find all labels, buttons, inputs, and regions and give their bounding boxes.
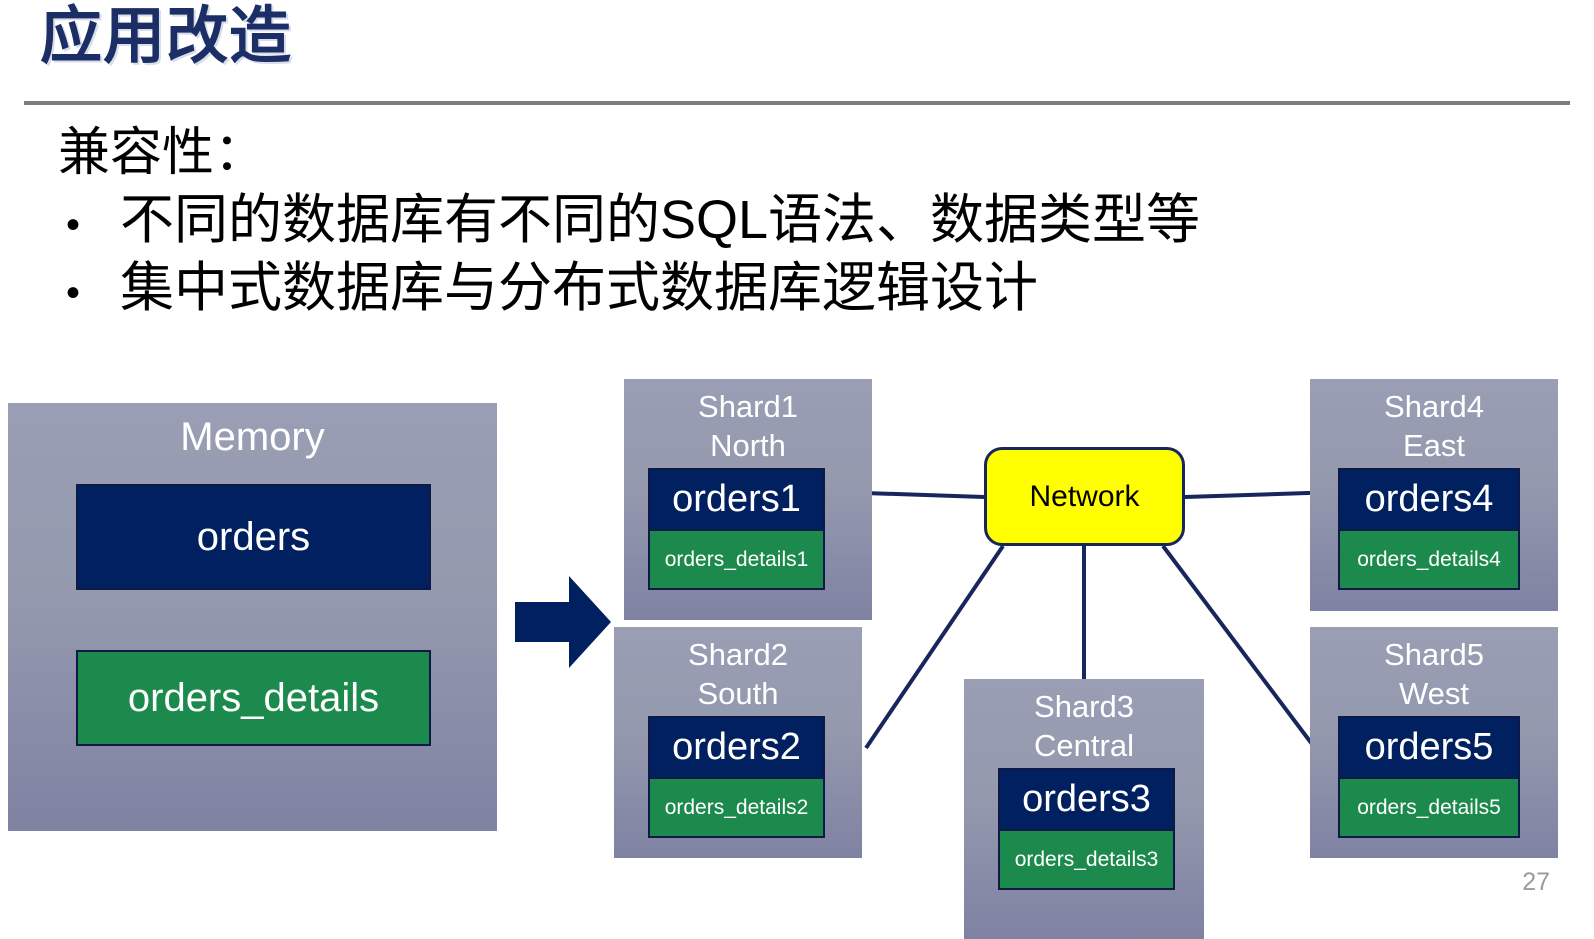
shard1-name: Shard1 bbox=[624, 387, 872, 426]
shard2-table-detail: orders_details2 bbox=[648, 777, 825, 838]
shard2-region: South bbox=[614, 674, 862, 713]
shard4-region: East bbox=[1310, 426, 1558, 465]
shard4-table-main: orders4 bbox=[1338, 468, 1520, 531]
shard3-table-detail: orders_details3 bbox=[998, 829, 1175, 890]
shard3-table-main: orders3 bbox=[998, 768, 1175, 831]
shard5-region: West bbox=[1310, 674, 1558, 713]
right-block-arrow-icon bbox=[515, 576, 611, 668]
shard2-name: Shard2 bbox=[614, 635, 862, 674]
shard1-region: North bbox=[624, 426, 872, 465]
shard1-table-detail: orders_details1 bbox=[648, 529, 825, 590]
memory-panel: Memory orders orders_details bbox=[8, 403, 497, 831]
shard-box-shard3[interactable]: Shard3 Central orders3 orders_details3 bbox=[964, 679, 1204, 939]
shard3-region: Central bbox=[964, 726, 1204, 765]
slide-canvas: 应用改造 兼容性： • 不同的数据库有不同的SQL语法、数据类型等 • 集中式数… bbox=[0, 0, 1594, 939]
shard4-title: Shard4 East bbox=[1310, 379, 1558, 465]
shard-box-shard5[interactable]: Shard5 West orders5 orders_details5 bbox=[1310, 627, 1558, 858]
shard3-name: Shard3 bbox=[964, 687, 1204, 726]
shard1-title: Shard1 North bbox=[624, 379, 872, 465]
shard2-title: Shard2 South bbox=[614, 627, 862, 713]
memory-table-orders-details: orders_details bbox=[76, 650, 431, 746]
memory-label: Memory bbox=[8, 403, 497, 457]
shard5-title: Shard5 West bbox=[1310, 627, 1558, 713]
network-node-icon[interactable]: Network bbox=[984, 447, 1185, 546]
memory-table-orders: orders bbox=[76, 484, 431, 590]
shard-box-shard2[interactable]: Shard2 South orders2 orders_details2 bbox=[614, 627, 862, 858]
shard5-table-main: orders5 bbox=[1338, 716, 1520, 779]
shard1-table-main: orders1 bbox=[648, 468, 825, 531]
shard2-table-main: orders2 bbox=[648, 716, 825, 779]
shard-box-shard4[interactable]: Shard4 East orders4 orders_details4 bbox=[1310, 379, 1558, 611]
sharding-diagram: Memory orders orders_details Shard1 Nort… bbox=[0, 0, 1594, 939]
shard5-name: Shard5 bbox=[1310, 635, 1558, 674]
shard3-title: Shard3 Central bbox=[964, 679, 1204, 765]
shard5-table-detail: orders_details5 bbox=[1338, 777, 1520, 838]
page-number: 27 bbox=[1522, 868, 1550, 897]
shard4-name: Shard4 bbox=[1310, 387, 1558, 426]
shard-box-shard1[interactable]: Shard1 North orders1 orders_details1 bbox=[624, 379, 872, 620]
shard4-table-detail: orders_details4 bbox=[1338, 529, 1520, 590]
